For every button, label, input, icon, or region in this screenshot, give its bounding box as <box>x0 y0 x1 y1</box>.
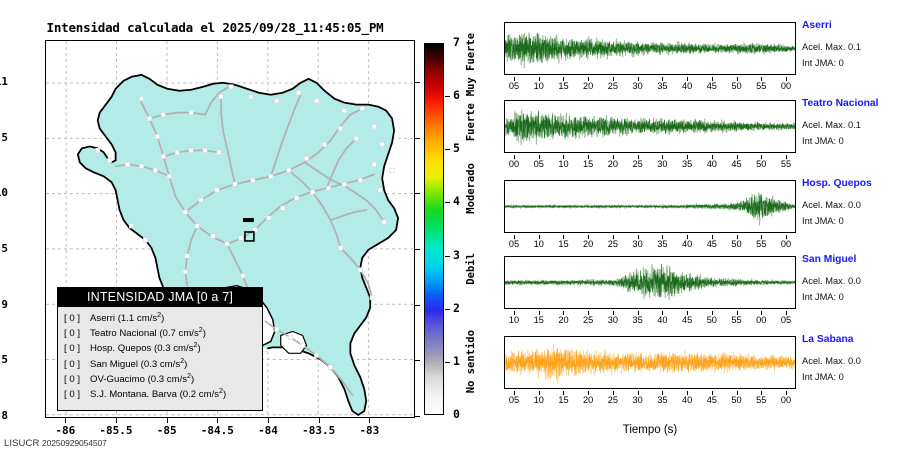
colorbar-category-label: Moderado <box>465 149 477 229</box>
lat-tick-mark <box>415 138 420 139</box>
legend-level: [ 0 ] <box>64 387 90 402</box>
time-tick-label: 05 <box>774 315 798 325</box>
waveform-graphic <box>505 181 795 232</box>
station-name[interactable]: San Miguel <box>802 254 856 265</box>
lon-tick-mark <box>217 418 218 423</box>
lat-tick-label: 9.5 <box>0 242 8 255</box>
time-axis: 101520253035404550550005 <box>504 311 796 327</box>
lat-tick-mark <box>415 249 420 250</box>
lat-tick-mark <box>415 360 420 361</box>
station-jma-intensity: Int JMA: 0 <box>802 216 844 226</box>
colorbar-category-label: Muy Fuerte <box>465 43 477 96</box>
colorbar-category-label: Debil <box>465 229 477 309</box>
time-tick-label: 30 <box>601 315 625 325</box>
lat-tick-label: 9 <box>0 298 8 311</box>
time-tick-label: 15 <box>551 239 575 249</box>
page-title: Intensidad calculada el 2025/09/28_11:45… <box>0 20 430 35</box>
colorbar-tick-label: 7 <box>453 35 460 49</box>
time-tick-label: 35 <box>650 239 674 249</box>
legend-paren-close: ) <box>223 389 226 400</box>
time-tick-label: 40 <box>650 315 674 325</box>
legend-level: [ 0 ] <box>64 341 90 356</box>
colorbar-category-label: No sentido <box>465 309 477 415</box>
colorbar-tick-label: 0 <box>453 407 460 421</box>
time-tick-label: 55 <box>725 315 749 325</box>
lat-tick-mark <box>415 82 420 83</box>
time-tick-label: 55 <box>774 159 798 169</box>
lon-tick-mark <box>319 418 320 423</box>
time-tick-label: 30 <box>626 81 650 91</box>
station-max-acceleration: Acel. Max. 0.0 <box>802 200 861 210</box>
time-axis: 051015202530354045505500 <box>504 391 796 407</box>
waveform-graphic <box>505 337 795 388</box>
time-tick-label: 40 <box>675 395 699 405</box>
station-max-acceleration: Acel. Max. 0.0 <box>802 276 861 286</box>
time-tick-label: 30 <box>650 159 674 169</box>
lat-tick-label: 10 <box>0 186 8 199</box>
lat-tick-label: 11 <box>0 75 8 88</box>
colorbar-category-label: Fuerte <box>465 96 477 149</box>
time-tick-label: 25 <box>626 159 650 169</box>
station-jma-intensity: Int JMA: 0 <box>802 372 844 382</box>
time-tick-label: 25 <box>576 315 600 325</box>
waveform-plot[interactable] <box>504 100 796 153</box>
time-tick-label: 20 <box>576 81 600 91</box>
time-tick-label: 45 <box>725 159 749 169</box>
time-tick-label: 40 <box>700 159 724 169</box>
map-panel: Intensidad calculada el 2025/09/28_11:45… <box>0 0 470 460</box>
station-max-acceleration: Acel. Max. 0.1 <box>802 120 861 130</box>
legend-station-name: San Miguel (0.3 cm/s <box>90 359 180 370</box>
time-axis: 000510152025303540455055 <box>504 155 796 171</box>
waveform-graphic <box>505 101 795 152</box>
legend-level: [ 0 ] <box>64 326 90 341</box>
time-tick-label: 00 <box>749 315 773 325</box>
time-tick-label: 25 <box>601 239 625 249</box>
time-tick-label: 55 <box>749 395 773 405</box>
time-tick-label: 20 <box>576 395 600 405</box>
time-tick-label: 00 <box>774 395 798 405</box>
station-name[interactable]: Aserri <box>802 20 832 31</box>
time-tick-label: 45 <box>675 315 699 325</box>
time-tick-label: 50 <box>725 395 749 405</box>
time-tick-label: 35 <box>650 395 674 405</box>
time-tick-label: 10 <box>551 159 575 169</box>
colorbar-tick-label: 1 <box>453 354 460 368</box>
legend-row: [ 0 ]Hosp. Quepos (0.3 cm/s2) <box>64 341 262 356</box>
intensity-colorbar: 76543210Muy FuerteFuerteModeradoDebilNo … <box>424 40 484 418</box>
legend-row: [ 0 ]Teatro Nacional (0.7 cm/s2) <box>64 326 262 341</box>
station-name[interactable]: Teatro Nacional <box>802 98 878 109</box>
colorbar-tick-label: 5 <box>453 141 460 155</box>
time-tick-label: 05 <box>502 395 526 405</box>
time-tick-label: 00 <box>502 159 526 169</box>
lon-tick-mark <box>116 418 117 423</box>
legend-level: [ 0 ] <box>64 311 90 326</box>
seismogram-panel: 051015202530354045505500AserriAcel. Max.… <box>492 0 910 460</box>
time-tick-label: 20 <box>601 159 625 169</box>
lon-tick-label: -83 <box>339 424 399 437</box>
lon-tick-mark <box>167 418 168 423</box>
colorbar-tick <box>445 202 450 203</box>
lon-tick-mark <box>268 418 269 423</box>
time-tick-label: 40 <box>675 239 699 249</box>
waveform-plot[interactable] <box>504 256 796 309</box>
legend-paren-close: ) <box>197 343 200 354</box>
time-tick-label: 10 <box>527 81 551 91</box>
legend-title: INTENSIDAD JMA [0 a 7] <box>58 288 262 307</box>
station-jma-intensity: Int JMA: 0 <box>802 292 844 302</box>
legend-level: [ 0 ] <box>64 372 90 387</box>
colorbar-tick-label: 4 <box>453 194 460 208</box>
station-jma-intensity: Int JMA: 0 <box>802 136 844 146</box>
lat-tick-mark <box>415 193 420 194</box>
lat-tick-label: 8 <box>0 409 8 422</box>
footer-credit: LISUCR 20250929054507 <box>4 438 107 449</box>
colorbar-tick-label: 2 <box>453 301 460 315</box>
legend-paren-close: ) <box>191 374 194 385</box>
colorbar-gradient <box>424 43 444 415</box>
legend-row: [ 0 ]Aserri (1.1 cm/s2) <box>64 311 262 326</box>
station-name[interactable]: Hosp. Quepos <box>802 178 872 189</box>
time-tick-label: 10 <box>502 315 526 325</box>
time-tick-label: 45 <box>700 239 724 249</box>
colorbar-tick <box>445 256 450 257</box>
time-tick-label: 35 <box>675 159 699 169</box>
time-tick-label: 10 <box>527 239 551 249</box>
colorbar-tick <box>445 309 450 310</box>
lon-tick-mark <box>369 418 370 423</box>
lat-tick-label: 10.5 <box>0 131 8 144</box>
time-tick-label: 45 <box>700 395 724 405</box>
time-tick-label: 15 <box>551 81 575 91</box>
lat-tick-mark <box>415 305 420 306</box>
legend-station-name: Hosp. Quepos (0.3 cm/s <box>90 343 193 354</box>
time-tick-label: 00 <box>774 239 798 249</box>
legend-row: [ 0 ]OV-Guacimo (0.3 cm/s2) <box>64 372 262 387</box>
time-axis: 051015202530354045505500 <box>504 235 796 251</box>
time-tick-label: 10 <box>527 395 551 405</box>
time-tick-label: 50 <box>725 81 749 91</box>
station-name[interactable]: La Sabana <box>802 334 854 345</box>
station-jma-intensity: Int JMA: 0 <box>802 58 844 68</box>
time-tick-label: 15 <box>551 395 575 405</box>
time-tick-label: 05 <box>502 239 526 249</box>
time-tick-label: 30 <box>626 239 650 249</box>
legend-station-name: Teatro Nacional (0.7 cm/s <box>90 328 199 339</box>
legend-paren-close: ) <box>203 328 206 339</box>
time-tick-label: 30 <box>626 395 650 405</box>
legend-row: [ 0 ]San Miguel (0.3 cm/s2) <box>64 357 262 372</box>
time-tick-label: 05 <box>502 81 526 91</box>
time-tick-label: 35 <box>626 315 650 325</box>
lat-tick-label: 8.5 <box>0 353 8 366</box>
time-tick-label: 50 <box>700 315 724 325</box>
legend-level: [ 0 ] <box>64 357 90 372</box>
lon-tick-mark <box>65 418 66 423</box>
colorbar-tick <box>445 362 450 363</box>
legend-station-name: Aserri (1.1 cm/s <box>90 313 157 324</box>
time-tick-label: 50 <box>725 239 749 249</box>
legend-station-name: S.J. Montana. Barva (0.2 cm/s <box>90 389 219 400</box>
station-max-acceleration: Acel. Max. 0.1 <box>802 42 861 52</box>
waveform-graphic <box>505 257 795 308</box>
time-tick-label: 55 <box>749 81 773 91</box>
colorbar-tick <box>445 96 450 97</box>
legend-station-list: [ 0 ]Aserri (1.1 cm/s2)[ 0 ]Teatro Nacio… <box>58 307 262 402</box>
time-tick-label: 55 <box>749 239 773 249</box>
colorbar-tick-label: 6 <box>453 88 460 102</box>
time-tick-label: 00 <box>774 81 798 91</box>
waveform-graphic <box>505 23 795 74</box>
legend-row: [ 0 ]S.J. Montana. Barva (0.2 cm/s2) <box>64 387 262 402</box>
time-tick-label: 15 <box>576 159 600 169</box>
time-tick-label: 50 <box>749 159 773 169</box>
colorbar-tick-label: 3 <box>453 248 460 262</box>
lat-tick-mark <box>415 416 420 417</box>
time-tick-label: 20 <box>551 315 575 325</box>
footer-timestamp: 20250929054507 <box>42 438 107 448</box>
time-tick-label: 15 <box>527 315 551 325</box>
time-axis: 051015202530354045505500 <box>504 77 796 93</box>
footer-tag: LISUCR <box>4 438 39 449</box>
legend-paren-close: ) <box>161 313 164 324</box>
time-tick-label: 05 <box>527 159 551 169</box>
colorbar-tick <box>445 149 450 150</box>
time-tick-label: 20 <box>576 239 600 249</box>
time-axis-label: Tiempo (s) <box>504 424 796 436</box>
legend-paren-close: ) <box>184 359 187 370</box>
legend-station-name: OV-Guacimo (0.3 cm/s <box>90 374 187 385</box>
waveform-plot[interactable] <box>504 180 796 233</box>
time-tick-label: 40 <box>675 81 699 91</box>
intensity-legend: INTENSIDAD JMA [0 a 7] [ 0 ]Aserri (1.1 … <box>57 287 263 411</box>
time-tick-label: 45 <box>700 81 724 91</box>
station-max-acceleration: Acel. Max. 0.0 <box>802 356 861 366</box>
time-tick-label: 25 <box>601 395 625 405</box>
time-tick-label: 25 <box>601 81 625 91</box>
seismic-intensity-report: Intensidad calculada el 2025/09/28_11:45… <box>0 0 910 460</box>
time-tick-label: 35 <box>650 81 674 91</box>
waveform-plot[interactable] <box>504 22 796 75</box>
waveform-plot[interactable] <box>504 336 796 389</box>
